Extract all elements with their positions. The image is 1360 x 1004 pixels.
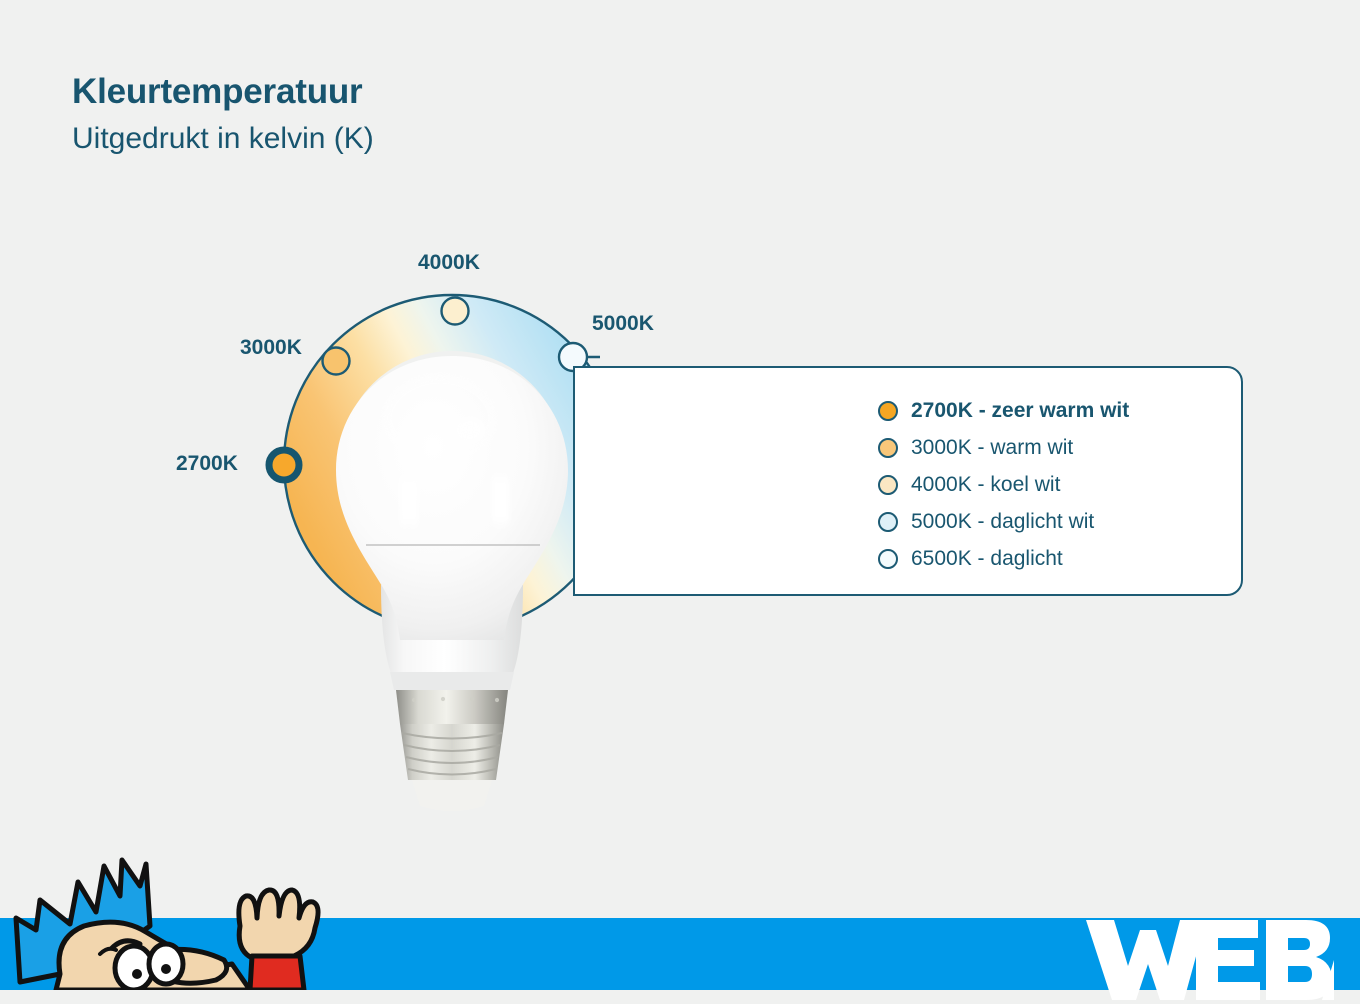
kelvin-label-3000k: 3000K (240, 336, 302, 360)
color-temperature-diagram: 2700K 3000K 4000K 5000K 6500K 2700K - ze… (0, 0, 1360, 920)
legend-item[interactable]: 4000K - koel wit (878, 466, 1129, 503)
legend-swatch-icon (878, 549, 898, 569)
e27-screw-base (396, 690, 508, 811)
legend-callout-box: 2700K - zeer warm wit 3000K - warm wit 4… (573, 366, 1243, 596)
kelvin-label-4000k: 4000K (418, 251, 480, 275)
legend-item-label: 4000K - koel wit (911, 473, 1060, 497)
legend-list: 2700K - zeer warm wit 3000K - warm wit 4… (878, 392, 1129, 577)
legend-item-label: 5000K - daglicht wit (911, 510, 1094, 534)
legend-item-label: 2700K - zeer warm wit (911, 399, 1129, 423)
legend-item[interactable]: 3000K - warm wit (878, 429, 1129, 466)
legend-swatch-icon (878, 401, 898, 421)
kelvin-node-3000k[interactable] (323, 348, 350, 375)
kelvin-node-2700k[interactable] (269, 450, 299, 480)
legend-swatch-icon (878, 438, 898, 458)
legend-item-label: 3000K - warm wit (911, 436, 1073, 460)
legend-swatch-icon (878, 475, 898, 495)
legend-item-label: 6500K - daglicht (911, 547, 1063, 571)
kelvin-label-2700k: 2700K (176, 452, 238, 476)
legend-item[interactable]: 5000K - daglicht wit (878, 503, 1129, 540)
legend-swatch-icon (878, 512, 898, 532)
kelvin-node-4000k[interactable] (442, 298, 469, 325)
legend-item[interactable]: 2700K - zeer warm wit (878, 392, 1129, 429)
kelvin-label-5000k: 5000K (592, 312, 654, 336)
weba-logo (1084, 912, 1334, 1004)
legend-item[interactable]: 6500K - daglicht (878, 540, 1129, 577)
mascot-illustration (0, 856, 340, 990)
